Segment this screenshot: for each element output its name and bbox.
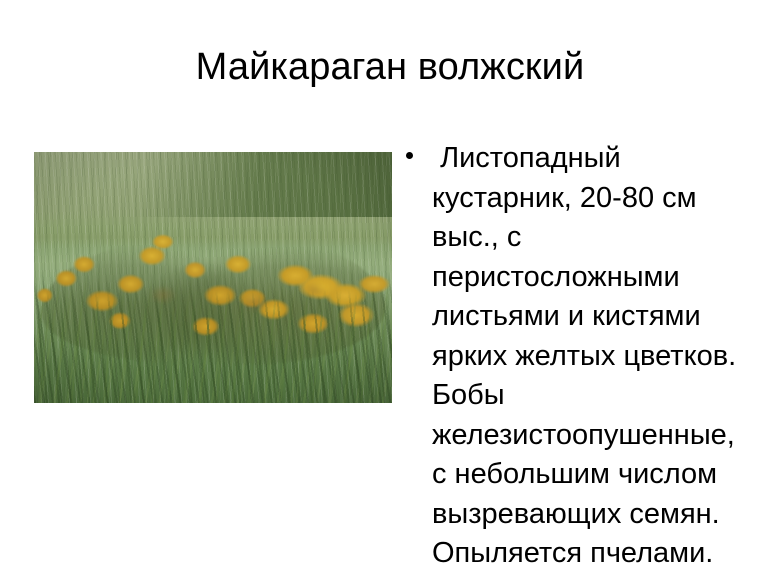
page-title: Майкараган волжский	[0, 44, 780, 90]
slide: Майкараган волжский Листопадный кустарни…	[0, 0, 780, 585]
plant-photo	[34, 152, 392, 403]
bullet-point-icon	[406, 152, 413, 159]
photo-vignette	[34, 152, 392, 403]
description-text: Листопадный кустарник, 20-80 см выс., с …	[432, 139, 738, 574]
bullet-list-item: Листопадный кустарник, 20-80 см выс., с …	[404, 139, 738, 574]
body-content: Листопадный кустарник, 20-80 см выс., с …	[404, 139, 738, 574]
